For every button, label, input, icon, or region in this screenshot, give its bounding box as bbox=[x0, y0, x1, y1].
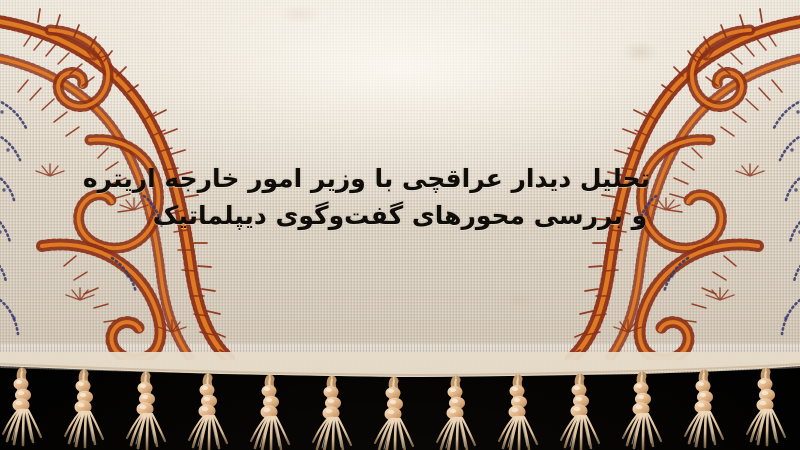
headline-line-2: و بررسی محورهای گفت‌وگوی دیپلماتیک bbox=[150, 197, 650, 234]
banner-headline: تحلیل دیدار عراقچی با وزیر امور خارجه ار… bbox=[150, 160, 650, 234]
headline-line-1: تحلیل دیدار عراقچی با وزیر امور خارجه ار… bbox=[150, 160, 650, 197]
knotted-fringe bbox=[0, 352, 800, 450]
banner-image: تحلیل دیدار عراقچی با وزیر امور خارجه ار… bbox=[0, 0, 800, 450]
